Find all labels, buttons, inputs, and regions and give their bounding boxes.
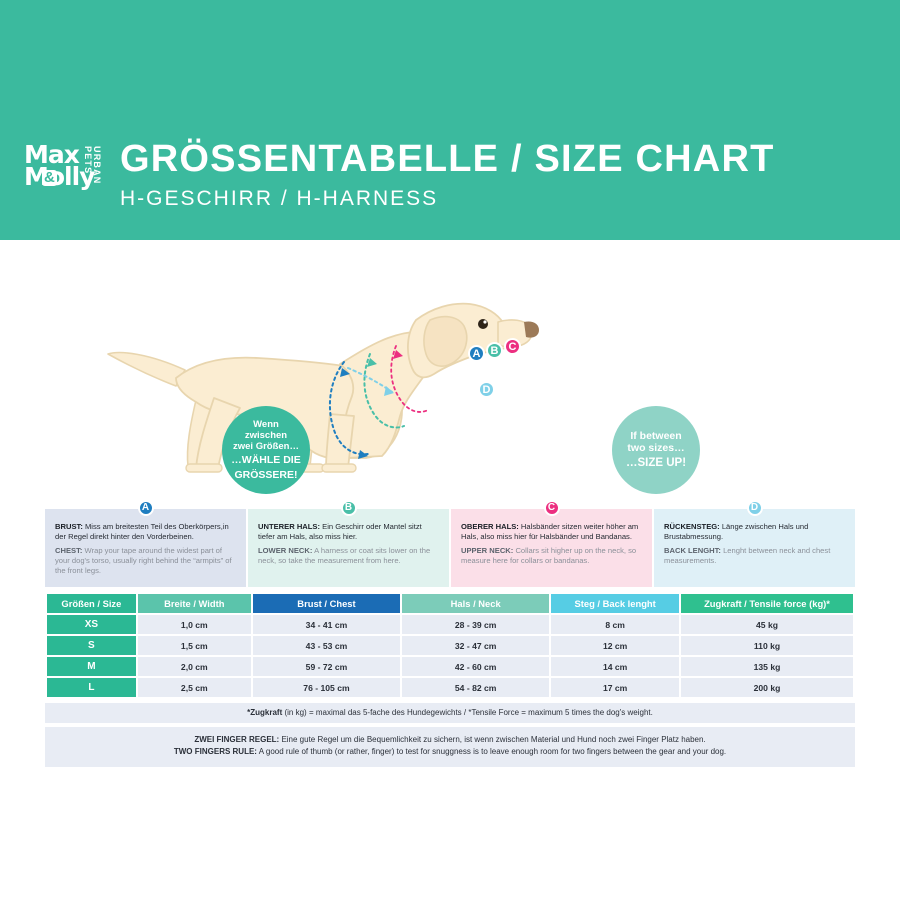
info-b-en: LOWER NECK: A harness or coat sits lower… — [258, 546, 439, 566]
cell-back: 17 cm — [551, 678, 679, 697]
badge-en-line-1: If between — [630, 430, 681, 442]
cell-size: XS — [47, 615, 136, 634]
info-c-de-label: OBERER HALS: — [461, 522, 519, 531]
marker-c: C — [504, 338, 521, 355]
col-header-force: Zugkraft / Tensile force (kg)* — [681, 594, 853, 613]
info-b-de: UNTERER HALS: Ein Geschirr oder Mantel s… — [258, 522, 439, 542]
info-badge-a: A — [138, 500, 154, 516]
info-a-en-text: Wrap your tape around the widest part of… — [55, 546, 232, 575]
two-fingers-de: ZWEI FINGER REGEL: Eine gute Regel um di… — [45, 734, 855, 746]
brand-logo: Max Molly & URBAN PETS — [24, 144, 100, 216]
title-group: GRÖSSENTABELLE / SIZE CHART H-GESCHIRR /… — [120, 140, 775, 211]
badge-de-line-1: Wenn — [253, 419, 279, 430]
info-badge-b: B — [341, 500, 357, 516]
cell-back: 8 cm — [551, 615, 679, 634]
info-b-en-label: LOWER NECK: — [258, 546, 312, 555]
cell-force: 135 kg — [681, 657, 853, 676]
cell-neck: 32 - 47 cm — [402, 636, 549, 655]
table-row: XS 1,0 cm 34 - 41 cm 28 - 39 cm 8 cm 45 … — [47, 615, 853, 634]
info-a-en: CHEST: Wrap your tape around the widest … — [55, 546, 236, 576]
info-d-de: RÜCKENSTEG: Länge zwischen Hals und Brus… — [664, 522, 845, 542]
info-box-chest: A BRUST: Miss am breitesten Teil des Obe… — [45, 509, 246, 587]
info-badge-c: C — [544, 500, 560, 516]
cell-neck: 28 - 39 cm — [402, 615, 549, 634]
info-b-de-label: UNTERER HALS: — [258, 522, 320, 531]
info-d-en: BACK LENGHT: Lenght between neck and che… — [664, 546, 845, 566]
info-c-de: OBERER HALS: Halsbänder sitzen weiter hö… — [461, 522, 642, 542]
table-row: L 2,5 cm 76 - 105 cm 54 - 82 cm 17 cm 20… — [47, 678, 853, 697]
cell-width: 2,5 cm — [138, 678, 251, 697]
cell-chest: 76 - 105 cm — [253, 678, 400, 697]
badge-en-line-2: two sizes… — [627, 442, 684, 454]
cell-chest: 59 - 72 cm — [253, 657, 400, 676]
cell-size: M — [47, 657, 136, 676]
marker-a: A — [468, 345, 485, 362]
cell-force: 45 kg — [681, 615, 853, 634]
cell-force: 110 kg — [681, 636, 853, 655]
info-c-en-label: UPPER NECK: — [461, 546, 513, 555]
badge-de-line-5: GRÖSSERE! — [231, 469, 300, 481]
info-a-de: BRUST: Miss am breitesten Teil des Oberk… — [55, 522, 236, 542]
badge-de-line-4: …WÄHLE DIE — [231, 454, 300, 466]
cell-size: L — [47, 678, 136, 697]
tensile-force-note: *Zugkraft (in kg) = maximal das 5-fache … — [45, 703, 855, 723]
tensile-note-rest: (in kg) = maximal das 5-fache des Hundeg… — [282, 708, 653, 717]
cell-chest: 34 - 41 cm — [253, 615, 400, 634]
marker-d: D — [478, 381, 495, 398]
col-header-width: Breite / Width — [138, 594, 251, 613]
cell-neck: 54 - 82 cm — [402, 678, 549, 697]
badge-de-line-3: zwei Größen… — [233, 441, 299, 452]
two-fingers-de-bold: ZWEI FINGER REGEL: — [194, 735, 279, 744]
info-a-de-label: BRUST: — [55, 522, 83, 531]
cell-back: 14 cm — [551, 657, 679, 676]
info-d-en-label: BACK LENGHT: — [664, 546, 721, 555]
info-box-lower-neck: B UNTERER HALS: Ein Geschirr oder Mantel… — [248, 509, 449, 587]
col-header-back: Steg / Back lenght — [551, 594, 679, 613]
col-header-size: Größen / Size — [47, 594, 136, 613]
badge-en-line-3: …SIZE UP! — [626, 457, 686, 471]
info-badge-d: D — [747, 500, 763, 516]
size-up-badge-de: Wenn zwischen zwei Größen… …WÄHLE DIE GR… — [222, 406, 310, 494]
cell-back: 12 cm — [551, 636, 679, 655]
two-fingers-rule-note: ZWEI FINGER REGEL: Eine gute Regel um di… — [45, 727, 855, 767]
two-fingers-de-rest: Eine gute Regel um die Bequemlichkeit zu… — [279, 735, 705, 744]
page-title: GRÖSSENTABELLE / SIZE CHART — [120, 140, 775, 178]
measurement-info-boxes: A BRUST: Miss am breitesten Teil des Obe… — [45, 509, 855, 587]
info-c-en: UPPER NECK: Collars sit higher up on the… — [461, 546, 642, 566]
two-fingers-en-rest: A good rule of thumb (or rather, finger)… — [257, 747, 726, 756]
info-box-upper-neck: C OBERER HALS: Halsbänder sitzen weiter … — [451, 509, 652, 587]
marker-b: B — [486, 342, 503, 359]
size-up-badge-en: If between two sizes… …SIZE UP! — [612, 406, 700, 494]
header-content: Max Molly & URBAN PETS GRÖSSENTABELLE / … — [24, 140, 775, 216]
two-fingers-en: TWO FINGERS RULE: A good rule of thumb (… — [45, 746, 855, 758]
info-d-de-label: RÜCKENSTEG: — [664, 522, 720, 531]
col-header-chest: Brust / Chest — [253, 594, 400, 613]
cell-force: 200 kg — [681, 678, 853, 697]
cell-width: 2,0 cm — [138, 657, 251, 676]
cell-neck: 42 - 60 cm — [402, 657, 549, 676]
cell-width: 1,0 cm — [138, 615, 251, 634]
badge-de-line-2: zwischen — [245, 430, 287, 441]
info-a-en-label: CHEST: — [55, 546, 82, 555]
size-table: Größen / Size Breite / Width Brust / Che… — [45, 592, 855, 699]
logo-ampersand: & — [42, 170, 57, 186]
cell-width: 1,5 cm — [138, 636, 251, 655]
table-row: M 2,0 cm 59 - 72 cm 42 - 60 cm 14 cm 135… — [47, 657, 853, 676]
table-header-row: Größen / Size Breite / Width Brust / Che… — [47, 594, 853, 613]
tensile-note-bold: *Zugkraft — [247, 708, 282, 717]
info-box-back-lenght: D RÜCKENSTEG: Länge zwischen Hals und Br… — [654, 509, 855, 587]
two-fingers-en-bold: TWO FINGERS RULE: — [174, 747, 257, 756]
table-row: S 1,5 cm 43 - 53 cm 32 - 47 cm 12 cm 110… — [47, 636, 853, 655]
dog-illustration — [0, 250, 900, 510]
logo-tagline: URBAN PETS — [83, 146, 101, 216]
page-subtitle: H-GESCHIRR / H-HARNESS — [120, 187, 775, 211]
cell-size: S — [47, 636, 136, 655]
col-header-neck: Hals / Neck — [402, 594, 549, 613]
header-band: Max Molly & URBAN PETS GRÖSSENTABELLE / … — [0, 0, 900, 240]
cell-chest: 43 - 53 cm — [253, 636, 400, 655]
